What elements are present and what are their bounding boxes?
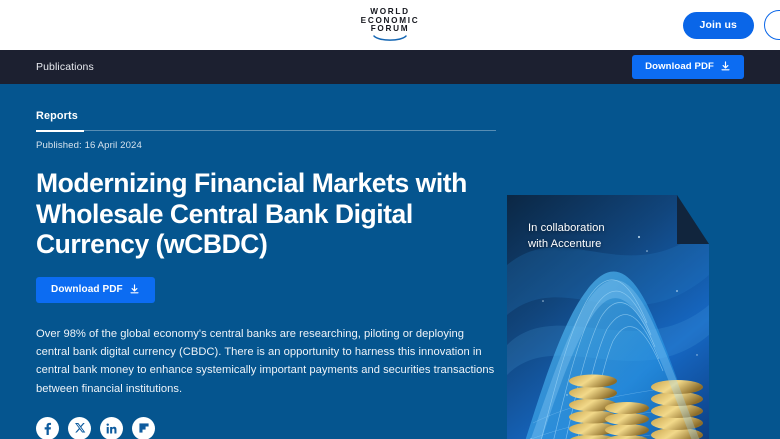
social-share-row bbox=[36, 417, 496, 439]
section-nav-bar: Publications Download PDF bbox=[0, 50, 780, 84]
download-icon bbox=[129, 284, 140, 295]
nav-download-pdf-button[interactable]: Download PDF bbox=[632, 55, 744, 79]
wef-logo[interactable]: WORLD ECONOMIC FORUM bbox=[361, 8, 420, 43]
facebook-icon bbox=[41, 422, 54, 435]
share-x-button[interactable] bbox=[68, 417, 91, 439]
published-date: Published: 16 April 2024 bbox=[36, 140, 496, 151]
linkedin-icon bbox=[105, 422, 118, 435]
share-linkedin-button[interactable] bbox=[100, 417, 123, 439]
hero-download-pdf-label: Download PDF bbox=[51, 284, 123, 295]
nav-download-pdf-label: Download PDF bbox=[645, 61, 714, 72]
hero-content: Reports Published: 16 April 2024 Moderni… bbox=[36, 84, 496, 439]
caption-line-2: with Accenture bbox=[528, 237, 605, 253]
hero-download-pdf-button[interactable]: Download PDF bbox=[36, 277, 155, 303]
header-circle-button[interactable] bbox=[764, 10, 780, 40]
publication-cover[interactable]: In collaboration with Accenture bbox=[507, 195, 709, 439]
tab-active-indicator bbox=[36, 130, 84, 132]
x-twitter-icon bbox=[74, 422, 86, 434]
cover-corner-fold bbox=[677, 195, 709, 244]
share-flipboard-button[interactable] bbox=[132, 417, 155, 439]
caption-line-1: In collaboration bbox=[528, 221, 605, 237]
share-facebook-button[interactable] bbox=[36, 417, 59, 439]
header-actions: Join us bbox=[683, 0, 780, 50]
publication-page: WORLD ECONOMIC FORUM Join us Publication… bbox=[0, 0, 780, 439]
content-type-tabs: Reports bbox=[36, 106, 496, 131]
tab-reports[interactable]: Reports bbox=[36, 110, 78, 130]
cover-collaboration-caption: In collaboration with Accenture bbox=[528, 221, 605, 253]
hero-download-wrap: Download PDF bbox=[36, 277, 496, 303]
page-title: Modernizing Financial Markets with Whole… bbox=[36, 168, 486, 260]
join-us-button[interactable]: Join us bbox=[683, 12, 754, 39]
hero-section: Reports Published: 16 April 2024 Moderni… bbox=[0, 84, 780, 439]
logo-line-forum: FORUM bbox=[371, 25, 410, 34]
publication-description: Over 98% of the global economy's central… bbox=[36, 325, 496, 398]
site-header: WORLD ECONOMIC FORUM Join us bbox=[0, 0, 780, 50]
flipboard-icon bbox=[138, 422, 150, 434]
breadcrumb-publications[interactable]: Publications bbox=[36, 61, 94, 73]
download-icon bbox=[720, 61, 731, 72]
tab-rule bbox=[36, 130, 496, 131]
logo-swoosh-icon bbox=[373, 35, 407, 42]
